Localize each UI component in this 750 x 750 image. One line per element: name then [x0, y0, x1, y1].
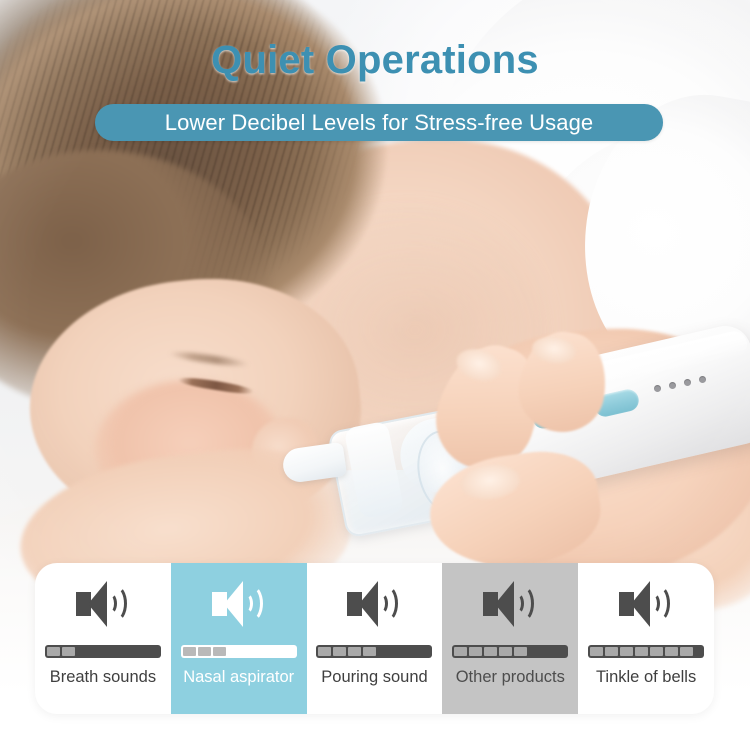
sound-column-0[interactable]: Breath sounds: [35, 563, 171, 714]
sound-label: Breath sounds: [50, 668, 156, 687]
meter-segment: [363, 647, 376, 656]
meter-segment: [348, 647, 361, 656]
loudness-meter: [452, 645, 568, 658]
meter-segment: [62, 647, 75, 656]
meter-segment: [183, 647, 196, 656]
speaker-icon: [210, 579, 268, 629]
sound-column-2[interactable]: Pouring sound: [307, 563, 443, 714]
loudness-meter: [45, 645, 161, 658]
meter-segment: [635, 647, 648, 656]
led-indicator-2: [669, 382, 676, 389]
sound-column-4[interactable]: Tinkle of bells: [578, 563, 714, 714]
meter-segment: [605, 647, 618, 656]
meter-segment: [213, 647, 226, 656]
meter-segment: [514, 647, 527, 656]
led-indicator-3: [684, 379, 691, 386]
speaker-icon: [481, 579, 539, 629]
meter-segment: [650, 647, 663, 656]
sound-label: Tinkle of bells: [596, 668, 696, 687]
led-indicator-4: [699, 376, 706, 383]
meter-segment: [499, 647, 512, 656]
meter-segment: [620, 647, 633, 656]
loudness-meter: [181, 645, 297, 658]
speaker-icon: [345, 579, 403, 629]
subtitle-text: Lower Decibel Levels for Stress-free Usa…: [165, 110, 594, 136]
meter-segment: [590, 647, 603, 656]
sound-column-3[interactable]: Other products: [442, 563, 578, 714]
meter-segment: [318, 647, 331, 656]
sound-comparison-panel: Breath soundsNasal aspiratorPouring soun…: [35, 563, 714, 714]
meter-segment: [665, 647, 678, 656]
meter-segment: [484, 647, 497, 656]
sound-label: Nasal aspirator: [183, 668, 294, 687]
speaker-icon: [74, 579, 132, 629]
meter-segment: [454, 647, 467, 656]
meter-segment: [47, 647, 60, 656]
meter-segment: [333, 647, 346, 656]
sound-column-1[interactable]: Nasal aspirator: [171, 563, 307, 714]
sound-label: Other products: [456, 668, 565, 687]
led-indicator-1: [654, 385, 661, 392]
meter-segment: [469, 647, 482, 656]
meter-segment: [198, 647, 211, 656]
page-title: Quiet Operations: [0, 38, 750, 83]
meter-segment: [680, 647, 693, 656]
sound-label: Pouring sound: [321, 668, 427, 687]
subtitle-pill: Lower Decibel Levels for Stress-free Usa…: [95, 104, 663, 141]
loudness-meter: [588, 645, 704, 658]
loudness-meter: [316, 645, 432, 658]
speaker-icon: [617, 579, 675, 629]
